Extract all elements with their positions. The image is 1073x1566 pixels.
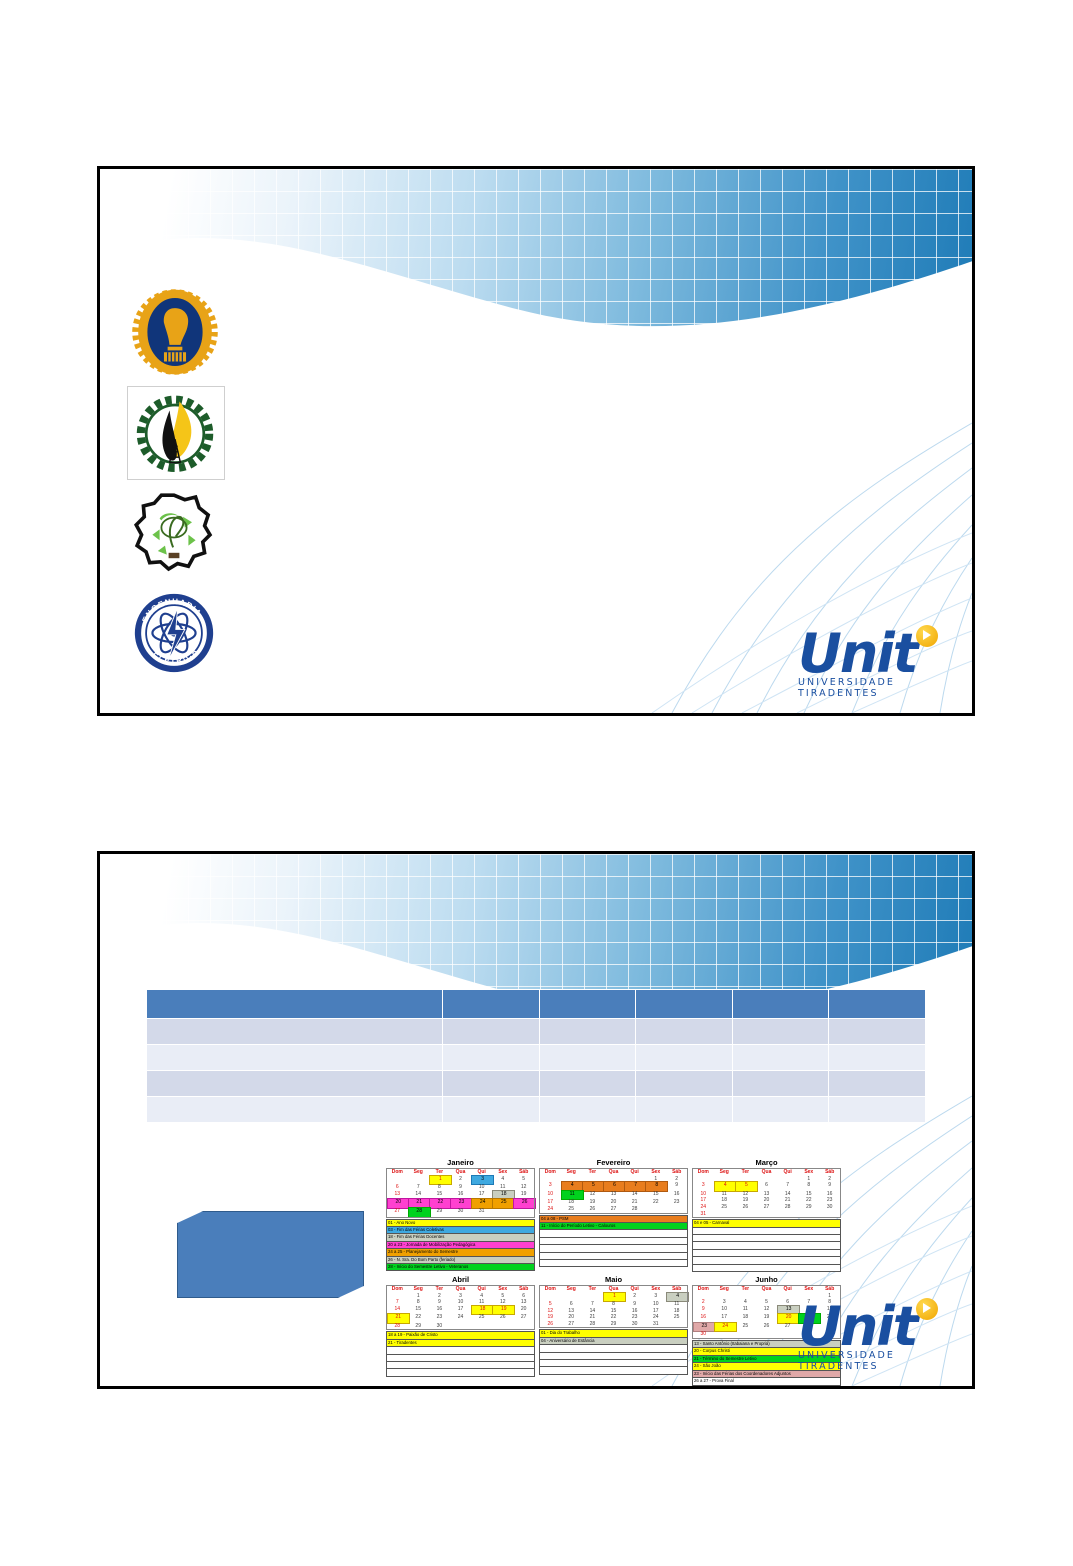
calendar-day[interactable]: 10: [450, 1299, 471, 1306]
calendar-day[interactable]: 18: [471, 1306, 492, 1315]
calendar-day[interactable]: 23: [693, 1323, 714, 1332]
calendar-day[interactable]: 20: [387, 1199, 408, 1208]
calendar-day[interactable]: 30: [624, 1321, 645, 1328]
calendar-day[interactable]: 27: [387, 1208, 408, 1217]
calendar-day[interactable]: 12: [513, 1184, 534, 1191]
calendar-day[interactable]: 23: [624, 1314, 645, 1321]
calendar-day[interactable]: 2: [429, 1293, 450, 1300]
unit-logo-play-dot-icon: [916, 625, 938, 647]
table-row[interactable]: [147, 1019, 926, 1045]
calendar-day[interactable]: 12: [735, 1191, 756, 1198]
calendar-day[interactable]: 10: [540, 1191, 561, 1200]
calendar-day[interactable]: 3: [714, 1299, 735, 1306]
calendar-day[interactable]: 9: [819, 1182, 840, 1191]
calendar-day[interactable]: 29: [429, 1208, 450, 1217]
calendar-legend-entry: 20 a 23 - Jornada de Mobilização Pedagóg…: [387, 1241, 535, 1248]
calendar-weekday-header: Ter: [429, 1285, 450, 1292]
calendar-day[interactable]: 25: [471, 1314, 492, 1323]
calendar-day[interactable]: 15: [798, 1191, 819, 1198]
calendar-day[interactable]: 25: [561, 1206, 582, 1213]
calendar-month-fevereiro: FevereiroDomSegTerQuaQuiSexSáb1234567891…: [539, 1158, 688, 1272]
calendar-day[interactable]: [492, 1208, 513, 1217]
unit-logo-play-dot-icon: [916, 1298, 938, 1320]
calendar-day[interactable]: 11: [666, 1301, 687, 1308]
calendar-day[interactable]: 31: [693, 1211, 714, 1218]
calendar-day[interactable]: 19: [582, 1199, 603, 1206]
calendar-day[interactable]: 16: [666, 1191, 687, 1200]
calendar-day[interactable]: 27: [561, 1321, 582, 1328]
calendar-day[interactable]: 3: [450, 1293, 471, 1300]
calendar-weekday-header: Seg: [408, 1169, 429, 1176]
calendar-month-janeiro: JaneiroDomSegTerQuaQuiSexSáb123456789101…: [386, 1158, 535, 1272]
calendar-day[interactable]: 2: [450, 1176, 471, 1185]
calendar-day[interactable]: 20: [513, 1306, 534, 1315]
calendar-day[interactable]: 7: [777, 1182, 798, 1191]
calendar-legend-entry: [693, 1227, 841, 1234]
calendar-day[interactable]: 18: [714, 1197, 735, 1204]
calendar-weekday-header: Dom: [387, 1285, 408, 1292]
slide-1[interactable]: ENGENHARIA ELÉTRICA Unit UNIVERSIDADE TI…: [97, 166, 975, 716]
calendar-day[interactable]: 30: [429, 1323, 450, 1330]
calendar-day[interactable]: [450, 1323, 471, 1330]
table-cell[interactable]: [829, 1071, 926, 1097]
calendar-day[interactable]: [735, 1331, 756, 1338]
calendar-weekday-header: Qua: [450, 1169, 471, 1176]
calendar-day[interactable]: 22: [408, 1314, 429, 1323]
calendar-day[interactable]: 24: [714, 1323, 735, 1332]
calendar-day[interactable]: 1: [429, 1176, 450, 1185]
calendar-weekday-header: Ter: [735, 1169, 756, 1176]
calendar-day[interactable]: 6: [513, 1293, 534, 1300]
calendar-day[interactable]: 27: [756, 1204, 777, 1211]
calendar-day[interactable]: 26: [513, 1199, 534, 1208]
table-cell[interactable]: [732, 1097, 829, 1123]
calendar-day[interactable]: 8: [798, 1182, 819, 1191]
calendar-weekday-header: Qui: [624, 1285, 645, 1292]
calendar-day[interactable]: 5: [492, 1293, 513, 1300]
calendar-row-first-semester-q1: JaneiroDomSegTerQuaQuiSexSáb123456789101…: [386, 1158, 841, 1272]
calendar-day[interactable]: 11: [714, 1191, 735, 1198]
calendar-day[interactable]: 28: [777, 1204, 798, 1211]
table-cell[interactable]: [829, 1045, 926, 1071]
calendar-day[interactable]: 8: [645, 1182, 666, 1191]
course-logos-column: ENGENHARIA ELÉTRICA: [127, 286, 227, 688]
table-cell[interactable]: [636, 990, 733, 1019]
calendar-weekday-header: Seg: [408, 1285, 429, 1292]
table-cell[interactable]: [147, 1019, 443, 1045]
calendar-month-title: Maio: [539, 1275, 688, 1285]
calendar-day[interactable]: 4: [735, 1299, 756, 1306]
calendar-legend-entry: [387, 1354, 535, 1361]
calendar-day[interactable]: [666, 1321, 687, 1328]
calendar-legend: 01 - Dia do Trabalho04 - Aniversário de …: [539, 1329, 688, 1374]
calendar-day[interactable]: 19: [492, 1306, 513, 1315]
calendar-day[interactable]: 26: [735, 1204, 756, 1211]
calendar-day[interactable]: 14: [777, 1191, 798, 1198]
calendar-day[interactable]: 12: [540, 1308, 561, 1315]
calendar-day[interactable]: [408, 1176, 429, 1185]
table-cell[interactable]: [829, 1097, 926, 1123]
calendar-day[interactable]: [513, 1323, 534, 1330]
calendar-day[interactable]: 23: [429, 1314, 450, 1323]
calendar-day[interactable]: 17: [645, 1308, 666, 1315]
calendar-day[interactable]: 28: [387, 1323, 408, 1330]
calendar-day[interactable]: 23: [450, 1199, 471, 1208]
calendar-day[interactable]: 7: [624, 1182, 645, 1191]
calendar-day[interactable]: 6: [756, 1182, 777, 1191]
table-row[interactable]: [147, 1045, 926, 1071]
calendar-legend: 04 a 08 - PSM11 - Início do Período Leti…: [539, 1215, 688, 1268]
calendar-day[interactable]: 22: [798, 1197, 819, 1204]
table-cell[interactable]: [443, 1019, 540, 1045]
calendar-weekday-header: Ter: [582, 1285, 603, 1292]
calendar-day[interactable]: [798, 1211, 819, 1218]
calendar-day[interactable]: 9: [429, 1299, 450, 1306]
calendar-weekday-header: Seg: [561, 1285, 582, 1292]
calendar-day[interactable]: 23: [819, 1197, 840, 1204]
calendar-weekday-header: Qui: [777, 1285, 798, 1292]
calendar-weekday-header: Dom: [540, 1285, 561, 1292]
calendar-day[interactable]: [735, 1293, 756, 1300]
calendar-day[interactable]: 3: [645, 1293, 666, 1302]
calendar-month-title: Junho: [692, 1275, 841, 1285]
calendar-legend-entry: [387, 1362, 535, 1369]
calendar-day[interactable]: 8: [408, 1299, 429, 1306]
calendar-day[interactable]: 22: [645, 1199, 666, 1206]
calendar-day[interactable]: 25: [735, 1323, 756, 1332]
calendar-day[interactable]: 18: [561, 1199, 582, 1206]
calendar-day[interactable]: 12: [756, 1306, 777, 1315]
calendar-day[interactable]: 16: [429, 1306, 450, 1315]
calendar-legend-entry: [540, 1252, 688, 1259]
calendar-day[interactable]: [756, 1176, 777, 1183]
calendar-day[interactable]: 27: [603, 1206, 624, 1213]
calendar-day[interactable]: 25: [492, 1199, 513, 1208]
calendar-day[interactable]: 7: [387, 1299, 408, 1306]
calendar-day[interactable]: 15: [645, 1191, 666, 1200]
calendar-day[interactable]: 16: [624, 1308, 645, 1315]
calendar-day[interactable]: 11: [561, 1191, 582, 1200]
calendar-day[interactable]: 5: [513, 1176, 534, 1185]
calendar-day[interactable]: 20: [777, 1314, 798, 1323]
table-cell[interactable]: [829, 990, 926, 1019]
calendar-legend: 18 a 19 - Paixão de Cristo21 - Tiradente…: [386, 1331, 535, 1376]
calendar-day[interactable]: 4: [714, 1182, 735, 1191]
calendar-month-abril: AbrilDomSegTerQuaQuiSexSáb12345678910111…: [386, 1275, 535, 1386]
calendar-day[interactable]: [777, 1293, 798, 1300]
calendar-day[interactable]: [714, 1211, 735, 1218]
calendar-day[interactable]: 27: [777, 1323, 798, 1332]
calendar-day[interactable]: 17: [540, 1199, 561, 1206]
calendar-day[interactable]: 22: [429, 1199, 450, 1208]
calendar-day[interactable]: 21: [387, 1314, 408, 1323]
calendar-day[interactable]: 3: [540, 1182, 561, 1191]
calendar-day[interactable]: 26: [492, 1314, 513, 1323]
calendar-day[interactable]: 5: [582, 1182, 603, 1191]
calendar-day[interactable]: 25: [714, 1204, 735, 1211]
calendar-day[interactable]: 27: [513, 1314, 534, 1323]
calendar-legend-entry: 21 - Tiradentes: [387, 1339, 535, 1346]
calendar-day[interactable]: 22: [603, 1314, 624, 1321]
calendar-day[interactable]: 15: [408, 1306, 429, 1315]
calendar-day[interactable]: 7: [408, 1184, 429, 1191]
calendar-day[interactable]: 19: [756, 1314, 777, 1323]
content-table[interactable]: [146, 989, 926, 1123]
calendar-day[interactable]: 6: [603, 1182, 624, 1191]
calendar-day[interactable]: 9: [624, 1301, 645, 1308]
calendar-day[interactable]: [492, 1323, 513, 1330]
calendar-day[interactable]: 3: [471, 1176, 492, 1185]
calendar-day[interactable]: 3: [693, 1182, 714, 1191]
calendar-day[interactable]: 19: [540, 1314, 561, 1321]
calendar-weekday-header: Qua: [603, 1169, 624, 1176]
calendar-day[interactable]: 20: [603, 1199, 624, 1206]
calendar-day[interactable]: 24: [540, 1206, 561, 1213]
calendar-day[interactable]: 7: [582, 1301, 603, 1308]
calendar-day[interactable]: 13: [603, 1191, 624, 1200]
calendar-day[interactable]: 18: [666, 1308, 687, 1315]
calendar-day[interactable]: 18: [735, 1314, 756, 1323]
calendar-day[interactable]: 2: [819, 1176, 840, 1183]
table-cell[interactable]: [829, 1019, 926, 1045]
table-row[interactable]: [147, 1071, 926, 1097]
calendar-weekday-header: Sex: [798, 1169, 819, 1176]
table-cell[interactable]: [636, 1045, 733, 1071]
calendar-weekday-header: Qua: [756, 1169, 777, 1176]
calendar-day[interactable]: 26: [756, 1323, 777, 1332]
calendar-day[interactable]: [756, 1331, 777, 1338]
calendar-weekday-header: Sáb: [513, 1169, 534, 1176]
calendar-day[interactable]: 4: [492, 1176, 513, 1185]
calendar-legend-entry: [540, 1360, 688, 1367]
calendar-day[interactable]: 17: [450, 1306, 471, 1315]
unit-brand-logo: Unit UNIVERSIDADE TIRADENTES: [798, 629, 958, 699]
calendar-day[interactable]: 9: [693, 1306, 714, 1315]
calendar-day[interactable]: 26: [582, 1206, 603, 1213]
calendar-day[interactable]: 5: [735, 1182, 756, 1191]
calendar-day[interactable]: 30: [693, 1331, 714, 1338]
calendar-legend-entry: [693, 1257, 841, 1264]
table-cell[interactable]: [147, 1071, 443, 1097]
calendar-weekday-header: Sáb: [666, 1169, 687, 1176]
calendar-weekday-header: Sex: [798, 1285, 819, 1292]
calendar-day[interactable]: 10: [693, 1191, 714, 1198]
calendar-day[interactable]: 15: [603, 1308, 624, 1315]
calendar-day[interactable]: [387, 1176, 408, 1185]
calendar-day[interactable]: [666, 1206, 687, 1213]
table-cell[interactable]: [636, 1097, 733, 1123]
calendar-day[interactable]: 30: [450, 1208, 471, 1217]
calendar-day[interactable]: 12: [582, 1191, 603, 1200]
calendar-day[interactable]: [582, 1293, 603, 1302]
calendar-legend-entry: [693, 1234, 841, 1241]
table-cell[interactable]: [636, 1071, 733, 1097]
calendar-day[interactable]: 1: [408, 1293, 429, 1300]
calendar-day[interactable]: 9: [666, 1182, 687, 1191]
blue-pentagon-callout[interactable]: [177, 1211, 364, 1298]
calendar-day[interactable]: [540, 1293, 561, 1302]
calendar-day[interactable]: 8: [429, 1184, 450, 1191]
calendar-grid[interactable]: DomSegTerQuaQuiSexSáb1234567891011121314…: [386, 1285, 535, 1331]
table-cell[interactable]: [636, 1019, 733, 1045]
calendar-day[interactable]: 24: [645, 1314, 666, 1321]
calendar-day[interactable]: 24: [450, 1314, 471, 1323]
calendar-day[interactable]: [756, 1293, 777, 1300]
calendar-day[interactable]: 28: [408, 1208, 429, 1217]
calendar-legend-entry: [540, 1230, 688, 1237]
calendar-day[interactable]: [777, 1331, 798, 1338]
calendar-day[interactable]: 16: [819, 1191, 840, 1198]
calendar-legend-entry: 01 - Dia do Trabalho: [540, 1330, 688, 1337]
calendar-day[interactable]: 10: [471, 1184, 492, 1191]
calendar-day[interactable]: 20: [561, 1314, 582, 1321]
calendar-day[interactable]: 29: [603, 1321, 624, 1328]
calendar-day[interactable]: [471, 1323, 492, 1330]
calendar-day[interactable]: 29: [408, 1323, 429, 1330]
table-cell[interactable]: [147, 1045, 443, 1071]
calendar-legend-entry: [540, 1352, 688, 1359]
calendar-weekday-header: Seg: [561, 1169, 582, 1176]
table-cell[interactable]: [539, 1097, 636, 1123]
calendar-grid[interactable]: DomSegTerQuaQuiSexSáb1234567891011121314…: [386, 1168, 535, 1218]
calendar-day[interactable]: 28: [582, 1321, 603, 1328]
calendar-day[interactable]: 6: [387, 1184, 408, 1191]
table-cell[interactable]: [443, 1071, 540, 1097]
calendar-day[interactable]: [387, 1293, 408, 1300]
table-cell[interactable]: [539, 1019, 636, 1045]
calendar-weekday-header: Dom: [693, 1169, 714, 1176]
table-row[interactable]: [147, 1097, 926, 1123]
calendar-weekday-header: Dom: [387, 1169, 408, 1176]
calendar-day[interactable]: 20: [756, 1197, 777, 1204]
calendar-day[interactable]: 28: [624, 1206, 645, 1213]
calendar-day[interactable]: 2: [624, 1293, 645, 1302]
calendar-month-maio: MaioDomSegTerQuaQuiSexSáb123456789101112…: [539, 1275, 688, 1386]
table-cell[interactable]: [732, 1045, 829, 1071]
calendar-day[interactable]: 25: [666, 1314, 687, 1321]
calendar-day[interactable]: [540, 1176, 561, 1183]
calendar-day[interactable]: [756, 1211, 777, 1218]
calendar-weekday-header: Seg: [714, 1169, 735, 1176]
calendar-day[interactable]: 24: [471, 1199, 492, 1208]
table-cell[interactable]: [443, 990, 540, 1019]
calendar-day[interactable]: 13: [561, 1308, 582, 1315]
table-cell[interactable]: [539, 1071, 636, 1097]
calendar-day[interactable]: 21: [777, 1197, 798, 1204]
calendar-day[interactable]: 1: [603, 1293, 624, 1302]
calendar-day[interactable]: 13: [513, 1299, 534, 1306]
calendar-day[interactable]: [561, 1293, 582, 1302]
calendar-day[interactable]: 26: [540, 1321, 561, 1328]
table-cell[interactable]: [443, 1045, 540, 1071]
calendar-row-first-semester-q2: AbrilDomSegTerQuaQuiSexSáb12345678910111…: [386, 1275, 841, 1386]
calendar-legend-entry: [387, 1347, 535, 1354]
calendar-legend-entry: [693, 1264, 841, 1271]
calendar-day[interactable]: 17: [693, 1197, 714, 1204]
calendar-day[interactable]: [714, 1331, 735, 1338]
calendar-legend-entry: [693, 1249, 841, 1256]
calendar-grid[interactable]: DomSegTerQuaQuiSexSáb1234567891011121314…: [539, 1285, 688, 1329]
calendar-legend-entry: [540, 1245, 688, 1252]
calendar-day[interactable]: 14: [582, 1308, 603, 1315]
table-cell[interactable]: [732, 1071, 829, 1097]
calendar-legend-entry: [540, 1237, 688, 1244]
engenharia-de-producao-logo: [127, 286, 223, 378]
calendar-day[interactable]: 9: [450, 1184, 471, 1191]
calendar-day[interactable]: 8: [603, 1301, 624, 1308]
calendar-day[interactable]: 4: [471, 1293, 492, 1300]
calendar-day[interactable]: 5: [540, 1301, 561, 1308]
calendar-day[interactable]: 2: [666, 1176, 687, 1183]
calendar-day[interactable]: [693, 1176, 714, 1183]
calendar-day[interactable]: 10: [645, 1301, 666, 1308]
calendar-day[interactable]: 31: [645, 1321, 666, 1328]
table-cell[interactable]: [147, 1097, 443, 1123]
table-row[interactable]: [147, 990, 926, 1019]
calendar-grid[interactable]: DomSegTerQuaQuiSexSáb1234567891011121314…: [692, 1168, 841, 1218]
calendar-day[interactable]: 21: [582, 1314, 603, 1321]
calendar-day[interactable]: 14: [624, 1191, 645, 1200]
table-cell[interactable]: [147, 990, 443, 1019]
table-cell[interactable]: [539, 990, 636, 1019]
calendar-weekday-header: Qua: [756, 1285, 777, 1292]
calendar-day[interactable]: 19: [735, 1197, 756, 1204]
calendar-day[interactable]: 23: [666, 1199, 687, 1206]
calendar-day[interactable]: [513, 1208, 534, 1217]
calendar-day[interactable]: 13: [756, 1191, 777, 1198]
calendar-day[interactable]: 1: [798, 1176, 819, 1183]
calendar-day[interactable]: [819, 1211, 840, 1218]
calendar-day[interactable]: 21: [624, 1199, 645, 1206]
calendar-day[interactable]: 5: [756, 1299, 777, 1306]
calendar-legend-entry: 04 - Aniversário de Estância: [540, 1337, 688, 1344]
calendar-grid[interactable]: DomSegTerQuaQuiSexSáb1234567891011121314…: [539, 1168, 688, 1214]
table-cell[interactable]: [732, 990, 829, 1019]
calendar-legend-entry: 24 a 25 - Planejamento do Semestre: [387, 1249, 535, 1256]
academic-calendar[interactable]: JaneiroDomSegTerQuaQuiSexSáb123456789101…: [386, 1158, 841, 1386]
calendar-weekday-header: Qui: [624, 1169, 645, 1176]
calendar-weekday-header: Dom: [693, 1285, 714, 1292]
calendar-day[interactable]: 2: [693, 1299, 714, 1306]
engenharia-de-petroleo-logo: [127, 386, 225, 480]
calendar-day[interactable]: 11: [735, 1306, 756, 1315]
calendar-day[interactable]: 31: [471, 1208, 492, 1217]
calendar-legend-entry: 04 e 05 - Carnaval: [693, 1220, 841, 1227]
calendar-day[interactable]: 30: [819, 1204, 840, 1211]
calendar-day[interactable]: [714, 1293, 735, 1300]
calendar-legend-entry: 18 - Fim das Férias Docentes: [387, 1234, 535, 1241]
calendar-day[interactable]: [693, 1293, 714, 1300]
calendar-legend-entry: [387, 1369, 535, 1376]
slide-2[interactable]: JaneiroDomSegTerQuaQuiSexSáb123456789101…: [97, 851, 975, 1389]
calendar-day[interactable]: [645, 1206, 666, 1213]
calendar-day[interactable]: 6: [561, 1301, 582, 1308]
slide-1-header-banner: [100, 169, 972, 369]
calendar-day[interactable]: 4: [666, 1293, 687, 1302]
calendar-day[interactable]: 24: [693, 1204, 714, 1211]
calendar-day[interactable]: [777, 1211, 798, 1218]
calendar-month-title: Janeiro: [386, 1158, 535, 1168]
table-cell[interactable]: [539, 1045, 636, 1071]
engenharia-ambiental-logo: [127, 488, 223, 580]
calendar-day[interactable]: [735, 1211, 756, 1218]
table-cell[interactable]: [732, 1019, 829, 1045]
table-cell[interactable]: [443, 1097, 540, 1123]
calendar-day[interactable]: 29: [798, 1204, 819, 1211]
calendar-day[interactable]: 10: [714, 1306, 735, 1315]
calendar-weekday-header: Seg: [714, 1285, 735, 1292]
calendar-day[interactable]: [777, 1176, 798, 1183]
